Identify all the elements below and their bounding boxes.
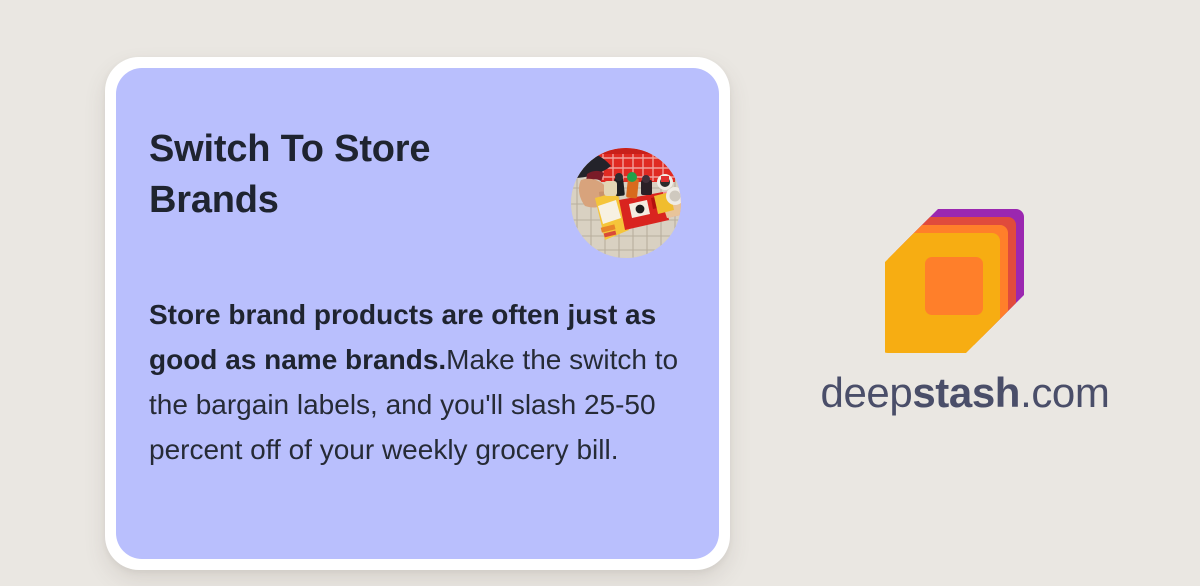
idea-card-header: Switch To Store Brands <box>149 124 685 258</box>
wordmark-prefix: deep <box>821 369 913 416</box>
wordmark-emphasis: stash <box>912 369 1020 416</box>
idea-card[interactable]: Switch To Store Brands <box>105 57 730 570</box>
idea-thumbnail-image <box>571 148 681 258</box>
wordmark-tld: .com <box>1020 369 1109 416</box>
screenshot-canvas: Switch To Store Brands <box>0 0 1200 586</box>
deepstash-logo-icon <box>885 195 1045 355</box>
page-title: Switch To Store Brands <box>149 124 509 226</box>
idea-body-text: Store brand products are often just as g… <box>149 292 685 472</box>
brand-wordmark: deepstash.com <box>800 369 1130 417</box>
brand-block: deepstash.com <box>800 195 1130 417</box>
idea-card-surface: Switch To Store Brands <box>116 68 719 559</box>
